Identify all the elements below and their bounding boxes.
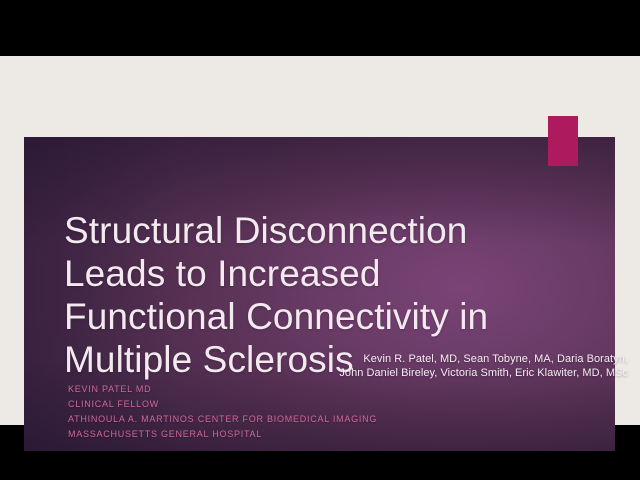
accent-bar-decoration — [548, 116, 578, 166]
author-line: Kevin R. Patel, MD, Sean Tobyne, MA, Dar… — [168, 352, 628, 366]
affiliation-institution: MASSACHUSETTS GENERAL HOSPITAL — [68, 427, 377, 442]
affiliation-center: ATHINOULA A. MARTINOS CENTER FOR BIOMEDI… — [68, 412, 377, 427]
affiliation-role: CLINICAL FELLOW — [68, 397, 377, 412]
author-line: John Daniel Bireley, Victoria Smith, Eri… — [168, 366, 628, 380]
presenter-affiliation: KEVIN PATEL MD CLINICAL FELLOW ATHINOULA… — [68, 382, 377, 442]
affiliation-presenter-name: KEVIN PATEL MD — [68, 382, 377, 397]
author-list: Kevin R. Patel, MD, Sean Tobyne, MA, Dar… — [168, 352, 628, 380]
slide-page: Structural Disconnection Leads to Increa… — [0, 56, 640, 425]
video-frame: Structural Disconnection Leads to Increa… — [0, 0, 640, 480]
